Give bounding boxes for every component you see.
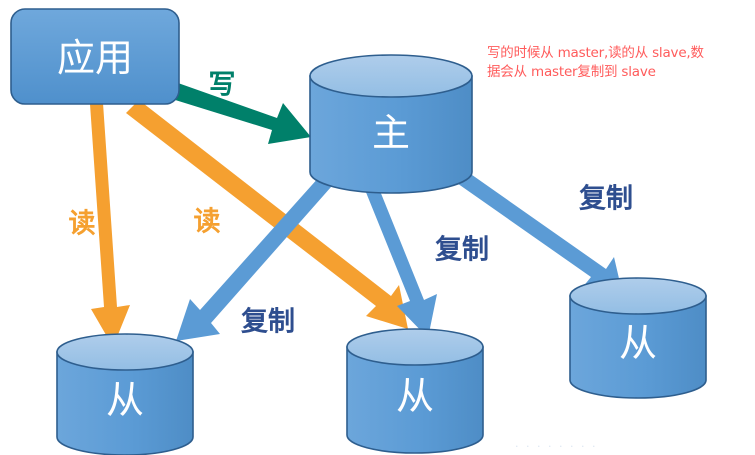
node-app[interactable]: 应用	[11, 9, 179, 104]
node-slave3[interactable]: 从	[570, 278, 706, 398]
edge-label-write: 写	[209, 70, 236, 101]
edge-label-replicate-slave1: 复制	[241, 307, 295, 338]
node-slave3-label: 从	[619, 321, 657, 365]
annotation-note: 写的时候从 master,读的从 slave,数 据会从 master复制到 s…	[487, 44, 749, 82]
edge-label-replicate-slave3: 复制	[579, 184, 633, 215]
watermark-text: · · · · · · · ·	[515, 440, 597, 453]
edge-label-read-slave2: 读	[194, 207, 221, 238]
edge-label-read-slave1: 读	[69, 209, 96, 240]
edge-read-slave1	[90, 103, 130, 347]
node-app-label: 应用	[57, 36, 133, 80]
node-master-label: 主	[372, 111, 410, 155]
node-slave2-label: 从	[396, 374, 434, 418]
node-slave1[interactable]: 从	[57, 334, 193, 455]
node-slave2[interactable]: 从	[347, 329, 483, 453]
diagram-canvas: 应用 主 从 从 从 写 读 读 复制	[0, 0, 755, 455]
edge-write-master	[172, 83, 311, 144]
node-master[interactable]: 主	[310, 55, 472, 193]
node-slave1-label: 从	[106, 378, 144, 422]
edge-label-replicate-slave2: 复制	[435, 235, 489, 266]
